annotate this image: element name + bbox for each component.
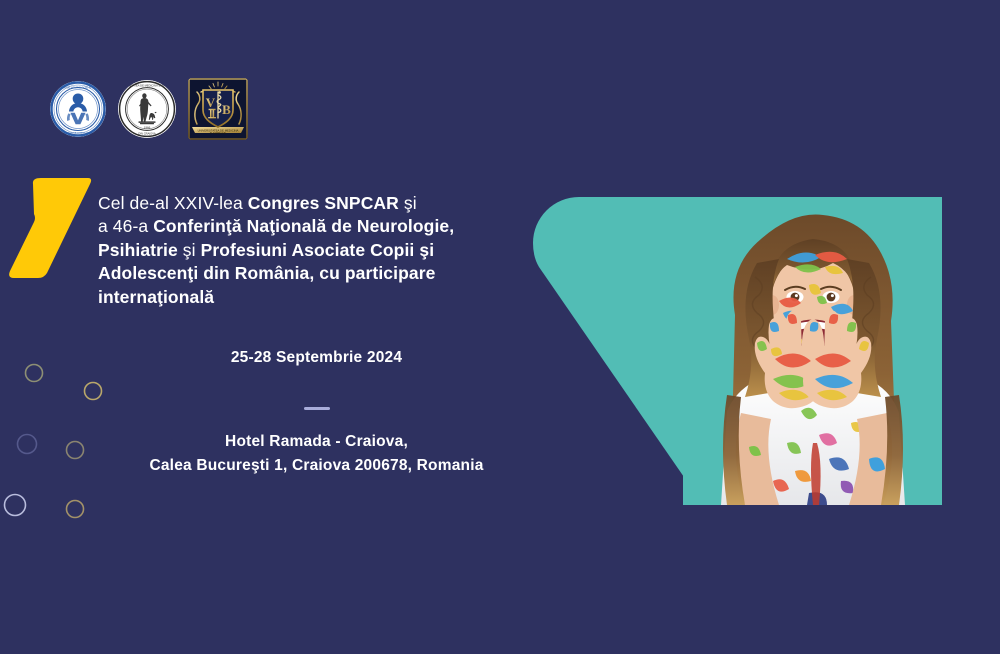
venue-line-2: Calea Bucureşti 1, Craiova 200678, Roman…	[98, 454, 535, 478]
decorative-circles	[0, 350, 140, 540]
logo-snpcar-society-seal: SOCIETATEA DE NEUROLOGIE SI PSIHIATRIE A…	[50, 81, 106, 137]
title-l5-bold: internaţională	[98, 287, 214, 307]
svg-text:DIN CRAIOVA: DIN CRAIOVA	[138, 131, 155, 135]
svg-text:SI FARMACIE: SI FARMACIE	[210, 131, 227, 135]
event-date: 25-28 Septembrie 2024	[98, 349, 535, 367]
venue-line-1: Hotel Ramada - Craiova,	[98, 430, 535, 454]
decor-circle-5	[5, 495, 26, 516]
title-l3-mid: şi	[178, 240, 201, 260]
title-l1-prefix: Cel de-al XXIV-lea	[98, 193, 248, 213]
child-with-painted-hands-photo	[683, 197, 942, 505]
page-title: Cel de-al XXIV-lea Congres SNPCAR şi a 4…	[98, 192, 498, 309]
title-line-3: Psihiatrie şi Profesiuni Asociate Copii …	[98, 239, 498, 262]
decor-circle-4	[67, 442, 84, 459]
title-line-4: Adolescenţi din România, cu participare	[98, 262, 498, 285]
title-l3-bold-a: Psihiatrie	[98, 240, 178, 260]
decor-circle-1	[26, 365, 43, 382]
decor-circle-2	[85, 383, 102, 400]
svg-text:B: B	[222, 102, 231, 117]
title-line-1: Cel de-al XXIV-lea Congres SNPCAR şi	[98, 192, 498, 215]
decor-circle-3	[18, 435, 37, 454]
hero-graphic	[533, 197, 942, 505]
title-l1-bold: Congres SNPCAR	[248, 193, 399, 213]
svg-text:A COPILULUI ROMANIA: A COPILULUI ROMANIA	[64, 131, 93, 135]
title-line-2: a 46-a Conferinţă Naţională de Neurologi…	[98, 215, 498, 238]
event-venue: Hotel Ramada - Craiova, Calea Bucureşti …	[98, 430, 535, 478]
title-line-5: internaţională	[98, 286, 498, 309]
logo-university-medicine-seal: UNIVERSITATEA DE MEDICINA SI FARMACIE DI…	[118, 80, 176, 138]
title-l1-suffix: şi	[399, 193, 417, 213]
logo-row: SOCIETATEA DE NEUROLOGIE SI PSIHIATRIE A…	[50, 78, 248, 140]
svg-text:1966: 1966	[144, 126, 151, 130]
decor-circle-6	[67, 501, 84, 518]
title-l2-bold: Conferinţă Naţională de Neurologie,	[153, 216, 454, 236]
svg-text:UNIVERSITATEA DE MEDICINA SI F: UNIVERSITATEA DE MEDICINA SI FARMACIE	[119, 84, 176, 88]
section-divider	[304, 407, 330, 410]
title-l3-bold-b: Profesiuni Asociate Copii şi	[201, 240, 435, 260]
title-l4-bold: Adolescenţi din România, cu participare	[98, 263, 435, 283]
svg-text:V: V	[206, 95, 216, 110]
event-details: 25-28 Septembrie 2024 Hotel Ramada - Cra…	[98, 349, 535, 478]
logo-vb-crest-emblem: UNIVERSITATEA DE MEDICINA SI FARMACIE V …	[188, 78, 248, 140]
yellow-chevron-accent	[4, 174, 98, 280]
svg-text:SOCIETATEA DE NEUROLOGIE SI PS: SOCIETATEA DE NEUROLOGIE SI PSIHIATRIE	[50, 85, 106, 89]
title-l2-prefix: a 46-a	[98, 216, 153, 236]
poster-canvas: SOCIETATEA DE NEUROLOGIE SI PSIHIATRIE A…	[0, 0, 1000, 654]
